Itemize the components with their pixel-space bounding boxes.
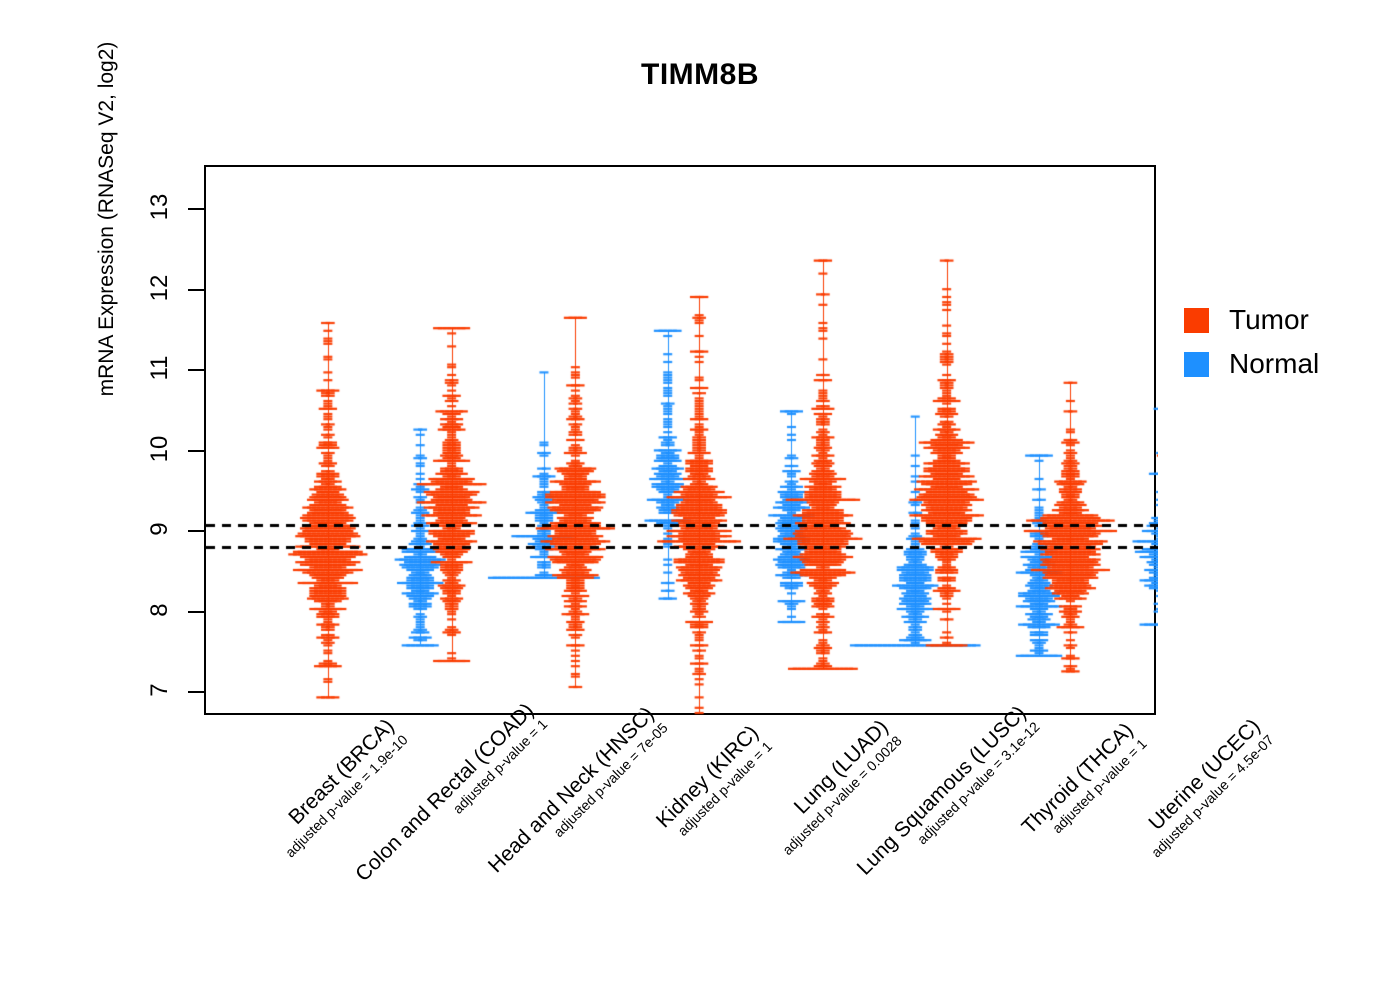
legend-label-tumor: Tumor (1229, 304, 1309, 336)
y-tick-mark (188, 611, 204, 613)
y-tick-mark (188, 208, 204, 210)
legend-item-tumor[interactable]: Tumor (1184, 298, 1319, 342)
y-axis-title: mRNA Expression (RNASeq V2, log2) (95, 9, 119, 429)
legend-label-normal: Normal (1229, 348, 1319, 380)
x-axis-category-name: Breast (BRCA) (265, 715, 399, 849)
y-tick-label: 12 (146, 268, 174, 308)
y-tick-label: 9 (146, 509, 174, 549)
y-tick-label: 11 (146, 348, 174, 388)
beeswarm-canvas (206, 167, 1158, 717)
y-tick-label: 7 (146, 670, 174, 710)
legend-item-normal[interactable]: Normal (1184, 342, 1319, 386)
y-tick-label: 8 (146, 590, 174, 630)
legend-swatch-normal-icon (1184, 352, 1209, 377)
x-axis-group-label: Kidney (KIRC)adjusted p-value = 1 (652, 721, 775, 844)
chart-figure: TIMM8B mRNA Expression (RNASeq V2, log2)… (0, 0, 1400, 1000)
x-axis-group-label: Thyroid (THCA)adjusted p-value = 1 (1017, 719, 1149, 851)
x-axis-group-label: Uterine (UCEC)adjusted p-value = 4.5e-07 (1131, 715, 1277, 861)
y-tick-mark (188, 530, 204, 532)
y-tick-mark (188, 289, 204, 291)
y-tick-mark (188, 691, 204, 693)
page-title: TIMM8B (0, 58, 1400, 92)
plot-area (204, 165, 1156, 715)
x-axis-category-name: Lung (LUAD) (762, 716, 893, 847)
legend-swatch-tumor-icon (1184, 308, 1209, 333)
y-tick-mark (188, 369, 204, 371)
y-tick-label: 10 (146, 429, 174, 469)
y-tick-label: 13 (146, 187, 174, 227)
y-tick-mark (188, 450, 204, 452)
chart-legend: Tumor Normal (1184, 298, 1319, 386)
x-axis-category-name: Uterine (UCEC) (1131, 715, 1265, 849)
